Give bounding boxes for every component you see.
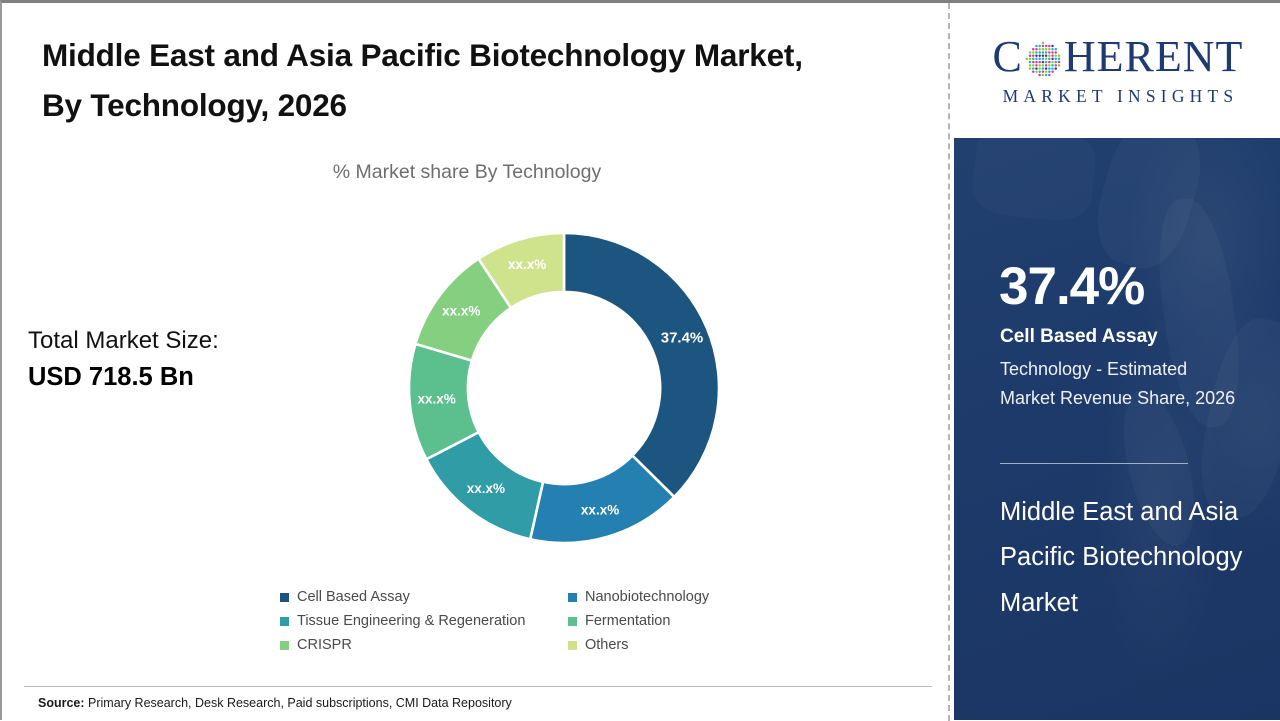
legend-label: Tissue Engineering & Regeneration bbox=[297, 613, 525, 629]
source-text: Primary Research, Desk Research, Paid su… bbox=[85, 696, 512, 710]
texture-shape bbox=[970, 138, 1099, 224]
region-market-title: Middle East and Asia Pacific Biotechnolo… bbox=[1000, 490, 1250, 626]
slice-value-label: xx.x% bbox=[467, 481, 505, 496]
stat-percentage: 37.4% bbox=[999, 260, 1144, 313]
panel-divider-dashed bbox=[948, 3, 950, 721]
legend-item-cell-based-assay[interactable]: Cell Based Assay bbox=[280, 589, 568, 605]
total-market-value: USD 718.5 Bn bbox=[28, 361, 358, 395]
legend-swatch-crispr bbox=[280, 641, 289, 650]
legend-item-others[interactable]: Others bbox=[568, 637, 798, 653]
chart-panel: Middle East and Asia Pacific Biotechnolo… bbox=[2, 3, 949, 720]
legend-label: Nanobiotechnology bbox=[585, 589, 709, 605]
legend-item-crispr[interactable]: CRISPR bbox=[280, 637, 568, 653]
slice-value-label: xx.x% bbox=[442, 303, 480, 318]
logo-wordmark: C HERENT bbox=[993, 35, 1244, 79]
stat-panel-divider bbox=[1000, 463, 1188, 464]
total-market-size: Total Market Size: USD 718.5 Bn bbox=[28, 325, 358, 395]
donut-chart-svg: 37.4%xx.x%xx.x%xx.x%xx.x%xx.x% bbox=[405, 229, 723, 547]
legend-item-fermentation[interactable]: Fermentation bbox=[568, 613, 798, 629]
donut-chart: 37.4%xx.x%xx.x%xx.x%xx.x%xx.x% bbox=[405, 229, 723, 547]
dotted-sphere-icon bbox=[1024, 40, 1063, 79]
stat-panel: 37.4% Cell Based Assay Technology - Esti… bbox=[954, 138, 1280, 720]
legend-row: Cell Based Assay Nanobiotechnology bbox=[280, 589, 800, 605]
legend-label: Fermentation bbox=[585, 613, 670, 629]
donut-slice-cell-based-assay[interactable] bbox=[564, 233, 719, 497]
legend-row: Tissue Engineering & Regeneration Fermen… bbox=[280, 613, 800, 629]
legend-item-tissue-engineering-regeneration[interactable]: Tissue Engineering & Regeneration bbox=[280, 613, 568, 629]
infographic-page: Middle East and Asia Pacific Biotechnolo… bbox=[0, 0, 1280, 720]
slice-value-label: xx.x% bbox=[508, 257, 546, 272]
legend-swatch-tissue-engineering-regeneration bbox=[280, 617, 289, 626]
source-note: Source: Primary Research, Desk Research,… bbox=[38, 696, 512, 710]
source-divider bbox=[24, 686, 932, 687]
brand-logo[interactable]: C HERENT MARKET INSIGHTS bbox=[954, 3, 1280, 138]
slice-value-label: xx.x% bbox=[581, 502, 619, 517]
source-label: Source: bbox=[38, 696, 85, 710]
page-title: Middle East and Asia Pacific Biotechnolo… bbox=[42, 31, 842, 131]
slice-value-label: xx.x% bbox=[418, 392, 456, 407]
total-market-label: Total Market Size: bbox=[28, 325, 358, 357]
logo-text-after: HERENT bbox=[1064, 35, 1244, 79]
legend-swatch-cell-based-assay bbox=[280, 593, 289, 602]
logo-text-before: C bbox=[993, 35, 1023, 79]
side-panel: C HERENT MARKET INSIGHTS 37.4% Cell Base… bbox=[954, 3, 1280, 720]
logo-subtitle: MARKET INSIGHTS bbox=[998, 86, 1239, 107]
legend-label: Others bbox=[585, 637, 629, 653]
chart-subtitle: % Market share By Technology bbox=[2, 161, 932, 184]
legend-swatch-nanobiotechnology bbox=[568, 593, 577, 602]
stat-description: Technology - Estimated Market Revenue Sh… bbox=[1000, 355, 1242, 414]
legend-label: CRISPR bbox=[297, 637, 352, 653]
legend-swatch-others bbox=[568, 641, 577, 650]
legend-item-nanobiotechnology[interactable]: Nanobiotechnology bbox=[568, 589, 798, 605]
donut-slices bbox=[409, 233, 719, 543]
legend-row: CRISPR Others bbox=[280, 637, 800, 653]
legend-swatch-fermentation bbox=[568, 617, 577, 626]
chart-legend: Cell Based Assay Nanobiotechnology Tissu… bbox=[280, 589, 800, 661]
legend-label: Cell Based Assay bbox=[297, 589, 410, 605]
slice-value-label: 37.4% bbox=[661, 330, 704, 347]
stat-segment-name: Cell Based Assay bbox=[1000, 326, 1158, 348]
